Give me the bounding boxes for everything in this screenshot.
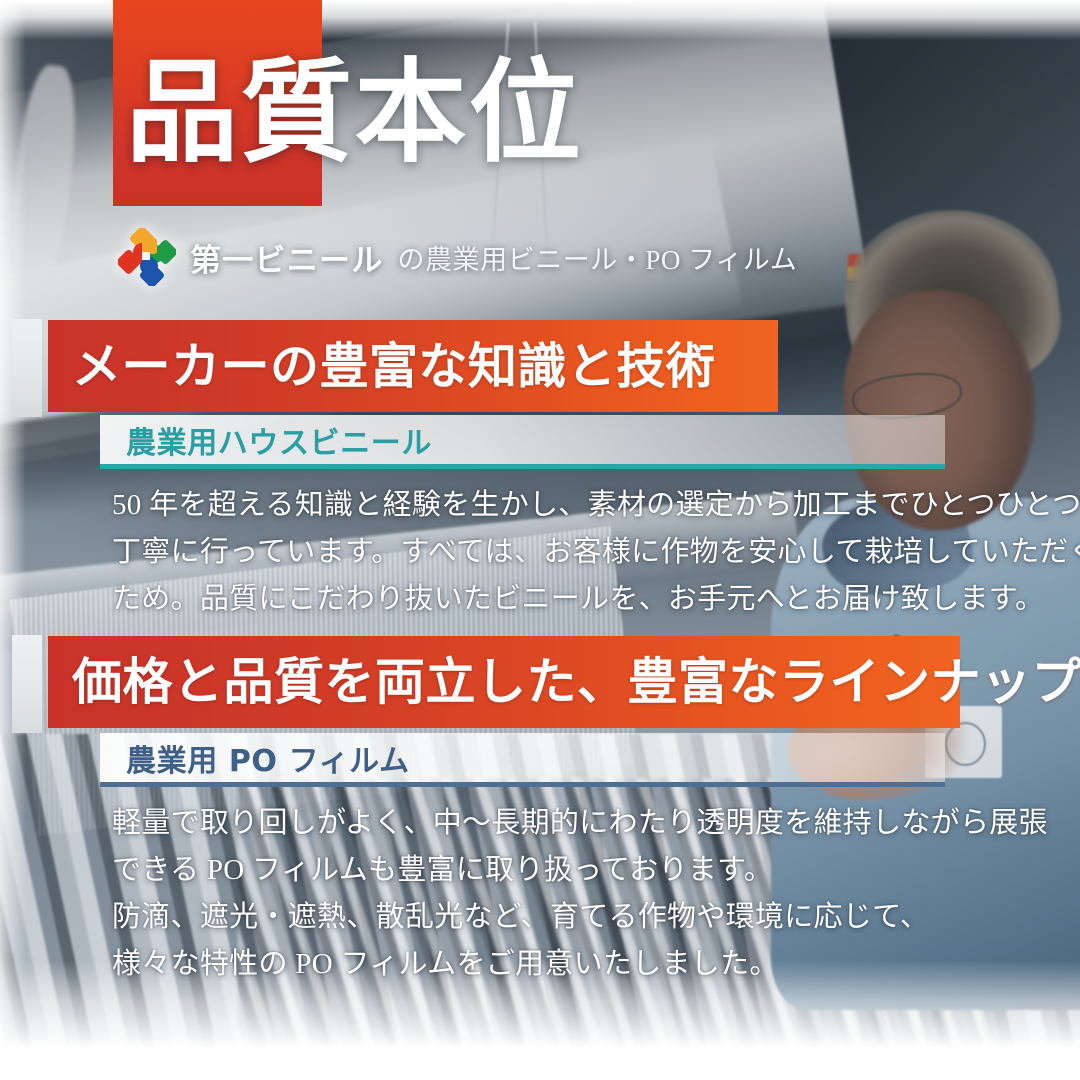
page-title: 品質本位 <box>126 58 583 170</box>
brand-name: 第一ビニール <box>190 235 383 280</box>
body-line: 50 年を超える知識と経験を生かし、素材の選定から加工までひとつひとつ <box>112 482 992 529</box>
section-heading-bar-1: メーカーの豊富な知識と技術 <box>48 320 778 412</box>
brand-line: 第一ビニール の農業用ビニール・PO フィルム <box>118 228 797 286</box>
body-line: ため。品質にこだわり抜いたビニールを、お手元へとお届け致します。 <box>112 576 992 623</box>
section-subheading-panel-2: 農業用 PO フィルム <box>100 733 945 787</box>
body-line: できる PO フィルムも豊富に取り扱っております。 <box>112 847 992 894</box>
section-heading-2: 価格と品質を両立した、豊富なラインナップ <box>48 657 1080 707</box>
promo-banner: 品質本位 第一ビニール の農業用ビニール・PO フィルム <box>0 0 1080 1080</box>
four-petal-pinwheel-logo-icon <box>118 228 176 286</box>
body-line: 防滴、遮光・遮熱、散乱光など、育てる作物や環境に応じて、 <box>112 894 992 941</box>
body-line: 軽量で取り回しがよく、中〜長期的にわたり透明度を維持しながら展張 <box>112 800 992 847</box>
section-body-1: 50 年を超える知識と経験を生かし、素材の選定から加工までひとつひとつ 丁寧に行… <box>112 482 992 623</box>
brand-tagline: の農業用ビニール・PO フィルム <box>397 238 797 277</box>
section-body-2: 軽量で取り回しがよく、中〜長期的にわたり透明度を維持しながら展張 できる PO … <box>112 800 992 988</box>
section-subheading-2: 農業用 PO フィルム <box>100 736 410 780</box>
banner-content: 品質本位 第一ビニール の農業用ビニール・PO フィルム <box>0 0 1080 1080</box>
section-heading-bar-2: 価格と品質を両立した、豊富なラインナップ <box>48 636 960 728</box>
body-line: 丁寧に行っています。すべては、お客様に作物を安心して栽培していただく <box>112 529 992 576</box>
section-tab-marker-1 <box>12 319 42 417</box>
section-subheading-1: 農業用ハウスビニール <box>100 418 432 462</box>
section-heading-1: メーカーの豊富な知識と技術 <box>48 342 715 391</box>
body-line: 様々な特性の PO フィルムをご用意いたしました。 <box>112 941 992 988</box>
section-tab-marker-2 <box>12 635 42 733</box>
section-subheading-panel-1: 農業用ハウスビニール <box>100 415 945 469</box>
